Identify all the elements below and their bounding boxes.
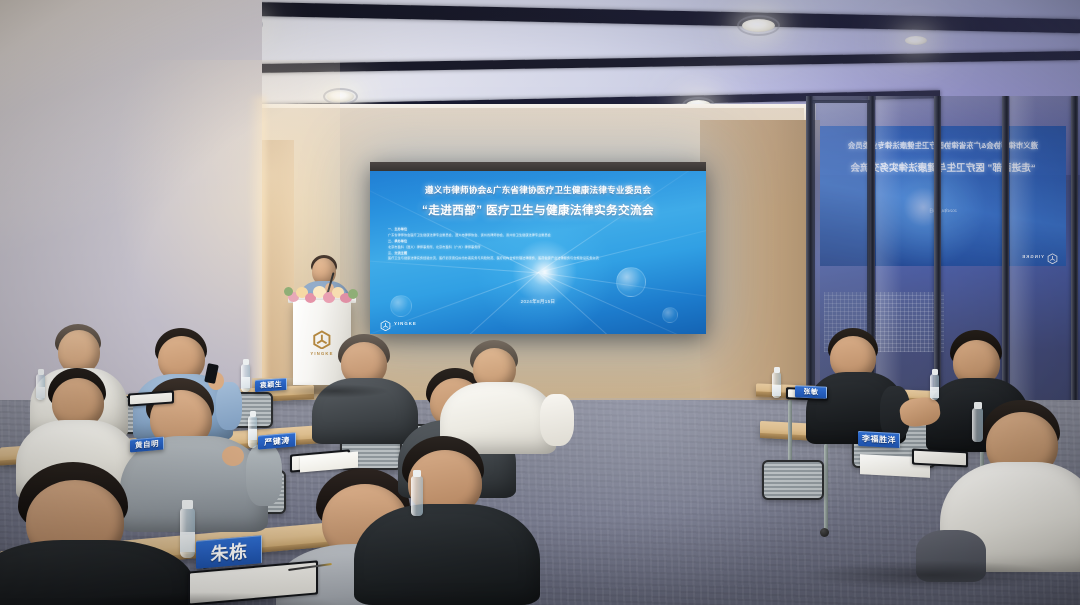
chair[interactable] — [762, 460, 824, 500]
water-bottle[interactable] — [972, 408, 983, 442]
screen-decorative-orb — [616, 267, 646, 297]
nameplate-text: 袁颖生 — [260, 379, 283, 391]
attendee-arm — [246, 444, 282, 506]
water-bottle[interactable] — [36, 374, 45, 400]
tablet-screen — [914, 451, 966, 466]
agenda-detail-3: 医疗卫生与健康法律实务经验交流、医疗损害责任纠纷办案实务与风险防范、医疗机构合规… — [388, 256, 688, 262]
screen-event-date: 2024年8月15日 — [370, 299, 706, 305]
yingke-hexagon-icon — [1047, 251, 1058, 262]
conference-room-photo: 遵义市律师协会&广东省律协医疗卫生健康法律专业委员会 “走进西部” 医疗卫生与健… — [0, 0, 1080, 605]
nameplate-li-yang: 李福胜洋 — [858, 431, 900, 448]
attendee-shirt — [312, 378, 418, 444]
led-presentation-screen: 遵义市律师协会&广东省律协医疗卫生健康法律专业委员会 “走进西部” 医疗卫生与健… — [370, 171, 706, 334]
screen-title-line1: 遵义市律师协会&广东省律协医疗卫生健康法律专业委员会 — [384, 184, 692, 196]
screen-yingke-logo: YINGKE — [380, 318, 417, 329]
back-wall-right-panel — [700, 120, 820, 420]
bottle-cap — [182, 500, 193, 509]
podium-logo: YINGKE — [310, 330, 333, 356]
podium-logo-text: YINGKE — [310, 351, 333, 356]
table-caster — [820, 528, 829, 537]
bottle-cap — [243, 359, 249, 365]
nameplate-text: 严键涛 — [264, 434, 290, 447]
water-bottle[interactable] — [248, 416, 257, 448]
screen-title-block: 遵义市律师协会&广东省律协医疗卫生健康法律专业委员会 “走进西部” 医疗卫生与健… — [370, 184, 706, 218]
nameplate-side — [261, 535, 262, 568]
attendee-shirt — [354, 504, 540, 605]
water-bottle[interactable] — [930, 374, 939, 400]
flower-leaf — [348, 289, 358, 299]
reflected-yingke-text: YINGKE — [1021, 254, 1044, 259]
bottle-cap — [974, 402, 982, 409]
podium-flower-arrangement — [286, 283, 358, 305]
bottle-cap — [932, 369, 938, 375]
nameplate-text: 朱栋 — [211, 537, 248, 566]
screen-yingke-text: YINGKE — [394, 321, 417, 326]
bottle-cap — [38, 369, 44, 375]
bottle-label — [248, 429, 257, 440]
water-bottle[interactable] — [180, 508, 195, 558]
bottle-label — [930, 387, 939, 398]
nameplate-text: 张敏 — [804, 387, 819, 398]
water-bottle[interactable] — [772, 372, 781, 398]
table-leg — [824, 444, 828, 532]
bottle-cap — [413, 470, 421, 477]
bottle-cap — [250, 411, 256, 417]
nameplate-yuan: 袁颖生 — [255, 378, 287, 392]
bottle-label — [36, 387, 45, 398]
ceiling-downlight-rim — [737, 15, 780, 36]
attendee-trousers — [916, 530, 986, 582]
bottle-label — [241, 377, 250, 388]
nameplate-side — [899, 433, 900, 448]
nameplate-text: 李福胜洋 — [862, 433, 896, 446]
nameplate-zhu-dong: 朱栋 — [196, 535, 262, 569]
attendee-arm — [540, 394, 574, 446]
screen-decorative-orb — [662, 307, 678, 323]
attendee-arm — [216, 382, 242, 430]
led-screen-top-bar — [370, 162, 706, 171]
nameplate-side — [826, 387, 827, 399]
tablet-screen — [130, 393, 172, 405]
flower-leaf — [284, 287, 293, 296]
nameplate-text: 黄自明 — [135, 438, 159, 451]
bottle-label — [772, 385, 781, 396]
reflected-yingke-logo: YINGKE — [1021, 251, 1058, 262]
screen-title-line2: “走进西部” 医疗卫生与健康法律实务交流会 — [384, 202, 692, 218]
yingke-hexagon-icon — [380, 318, 391, 329]
bottle-cap — [774, 367, 780, 373]
screen-agenda-block: 一、主办单位 广东省律师协会医疗卫生健康法律专业委员会、遵义市律师协会、贵州省律… — [388, 227, 688, 262]
water-bottle[interactable] — [241, 364, 250, 392]
nameplate-zhang: 张敏 — [795, 385, 827, 398]
water-bottle[interactable] — [411, 476, 423, 516]
ceiling-downlight-rim — [323, 88, 358, 105]
bottle-label — [180, 532, 195, 552]
yingke-hexagon-icon — [312, 330, 331, 349]
attendee-hand — [222, 446, 244, 466]
led-screen-bezel: 遵义市律师协会&广东省律协医疗卫生健康法律专业委员会 “走进西部” 医疗卫生与健… — [370, 162, 706, 334]
ceiling-downlight — [905, 36, 927, 45]
tablet-device[interactable] — [912, 449, 968, 468]
